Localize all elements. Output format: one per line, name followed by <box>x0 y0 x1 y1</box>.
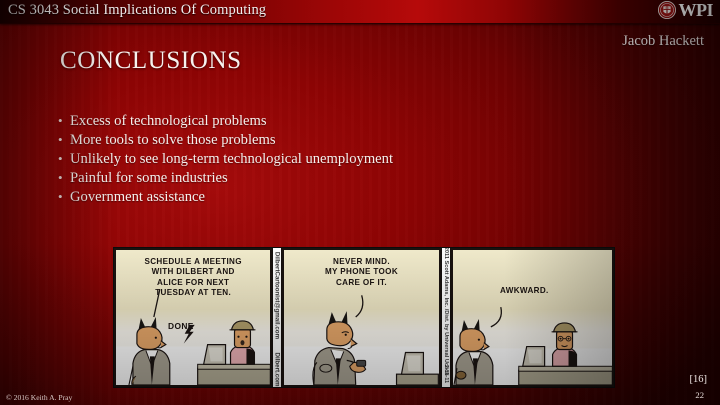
comic-speech-text: AWKWARD. <box>451 286 604 296</box>
comic-copyright-text: ©2011 Scott Adams, Inc. /Dist. by Univer… <box>443 248 449 375</box>
comic-datecode-text: 2-15-11 <box>443 365 449 383</box>
wpi-logo: WPI <box>658 1 714 19</box>
bullet-list: • Excess of technological problems • Mor… <box>58 111 578 206</box>
bullet-text: Government assistance <box>70 188 205 207</box>
dilbert-comic-strip: SCHEDULE A MEETING WITH DILBERT AND ALIC… <box>113 247 615 388</box>
bullet-text: Excess of technological problems <box>70 112 267 131</box>
footer-copyright: © 2016 Keith A. Pray <box>6 393 72 402</box>
wpi-wordmark: WPI <box>679 1 714 19</box>
bullet-text: Unlikely to see long-term technological … <box>70 150 393 169</box>
page-number: 22 <box>695 390 704 400</box>
slide-canvas: CS 3043 Social Implications Of Computing… <box>0 0 720 405</box>
comic-panel-1: SCHEDULE A MEETING WITH DILBERT AND ALIC… <box>114 248 272 387</box>
list-item: • Unlikely to see long-term technologica… <box>58 149 578 168</box>
bullet-marker-icon: • <box>58 149 70 168</box>
comic-panel-2: NEVER MIND. MY PHONE TOOK CARE OF IT. <box>282 248 440 387</box>
course-title: CS 3043 Social Implications Of Computing <box>8 2 266 19</box>
bullet-marker-icon: • <box>58 187 70 206</box>
bullet-text: More tools to solve those problems <box>70 131 276 150</box>
dilbert-site-text: Dilbert.com <box>274 352 281 386</box>
author-name: Jacob Hackett <box>622 33 704 50</box>
comic-speech-text: SCHEDULE A MEETING WITH DILBERT AND ALIC… <box>116 257 270 299</box>
bullet-marker-icon: • <box>58 168 70 187</box>
list-item: • More tools to solve those problems <box>58 130 578 149</box>
bullet-text: Painful for some industries <box>70 169 228 188</box>
comic-gutter-credits-1: DilbertCartoonist@gmail.com Dilbert.com <box>272 248 282 387</box>
cartoonist-email-text: DilbertCartoonist@gmail.com <box>274 252 281 339</box>
slide-header-bar: CS 3043 Social Implications Of Computing… <box>0 0 720 24</box>
comic-panel-3: AWKWARD. <box>451 248 614 387</box>
comic-gutter-credits-2: ©2011 Scott Adams, Inc. /Dist. by Univer… <box>441 248 451 387</box>
comic-speech-text: NEVER MIND. MY PHONE TOOK CARE OF IT. <box>284 257 438 288</box>
list-item: • Painful for some industries <box>58 168 578 187</box>
page-title: CONCLUSIONS <box>60 47 242 75</box>
bullet-marker-icon: • <box>58 130 70 149</box>
citation-reference: [16] <box>690 374 708 385</box>
comic-reply-text: DONE <box>168 321 194 331</box>
bullet-marker-icon: • <box>58 111 70 130</box>
list-item: • Government assistance <box>58 187 578 206</box>
list-item: • Excess of technological problems <box>58 111 578 130</box>
wpi-seal-icon <box>658 1 676 19</box>
comic-panel-3-art <box>453 250 612 385</box>
